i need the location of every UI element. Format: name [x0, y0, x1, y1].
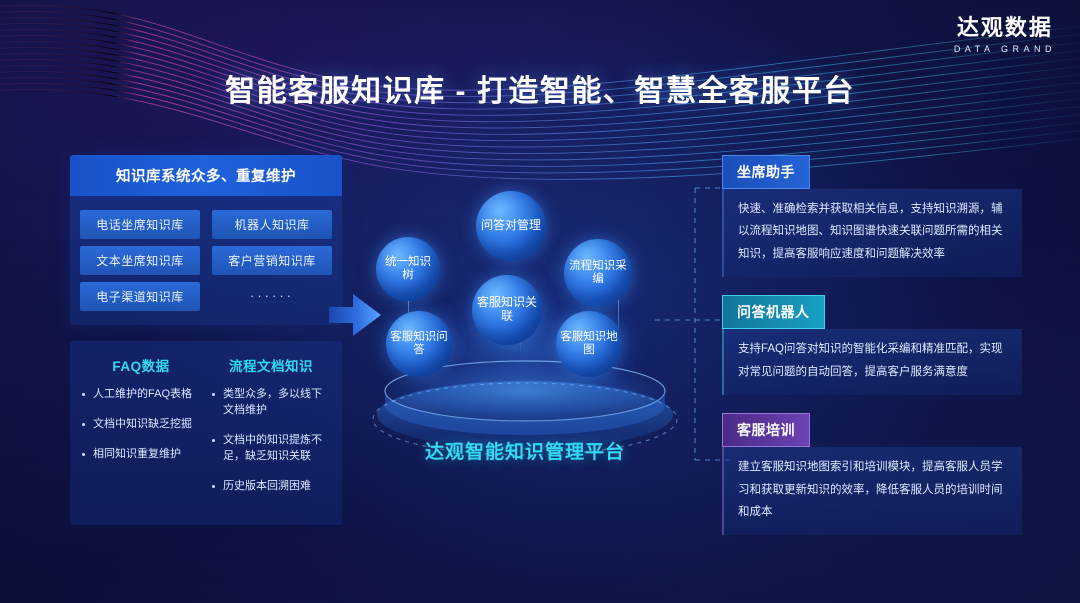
list-item: 文档中的知识提炼不足，缺乏知识关联 — [210, 433, 332, 465]
kb-chip-robot[interactable]: 机器人知识库 — [212, 210, 332, 239]
node-service-knowledge-qa[interactable]: 客服知识问答 — [386, 311, 452, 377]
kb-chip-ellipsis: ······ — [212, 282, 332, 311]
pain-points-panel: FAQ数据 人工维护的FAQ表格 文档中知识缺乏挖掘 相同知识重复维护 流程文档… — [70, 341, 342, 525]
info-card-title: 问答机器人 — [722, 295, 825, 329]
knowledge-platform-stage: 问答对管理 统一知识树 流程知识采编 客服知识关联 客服知识问答 客服知识地图 — [360, 175, 690, 465]
knowledge-base-grid: 电话坐席知识库 机器人知识库 文本坐席知识库 客户营销知识库 电子渠道知识库 ·… — [70, 196, 342, 311]
kb-chip-e-channel[interactable]: 电子渠道知识库 — [80, 282, 200, 311]
node-service-knowledge-map[interactable]: 客服知识地图 — [556, 311, 622, 377]
info-card-title: 坐席助手 — [722, 155, 810, 189]
list-item: 历史版本回溯困难 — [210, 479, 332, 495]
node-service-knowledge-link[interactable]: 客服知识关联 — [472, 275, 542, 345]
info-card-qa-robot: 问答机器人 支持FAQ问答对知识的智能化采编和精准匹配，实现对常见问题的自动回答… — [722, 295, 1022, 395]
knowledge-base-panel-header: 知识库系统众多、重复维护 — [70, 155, 342, 196]
kb-chip-customer-mktg[interactable]: 客户营销知识库 — [212, 246, 332, 275]
node-label: 客服知识地图 — [556, 331, 622, 357]
pain-points-title-process: 流程文档知识 — [210, 355, 332, 375]
node-process-knowledge-edit[interactable]: 流程知识采编 — [564, 239, 632, 307]
node-label: 统一知识树 — [376, 256, 440, 282]
brand-logo: 达观数据 DATA GRAND — [954, 16, 1056, 54]
node-label: 客服知识问答 — [386, 331, 452, 357]
pain-points-list-process: 类型众多，多以线下文档维护 文档中的知识提炼不足，缺乏知识关联 历史版本回溯困难 — [210, 387, 332, 495]
list-item: 文档中知识缺乏挖掘 — [80, 417, 202, 433]
node-qa-pair-management[interactable]: 问答对管理 — [476, 191, 546, 261]
brand-name-cn: 达观数据 — [954, 16, 1056, 40]
node-label: 问答对管理 — [477, 219, 545, 233]
kb-chip-phone-agent[interactable]: 电话坐席知识库 — [80, 210, 200, 239]
brand-name-en: DATA GRAND — [954, 44, 1056, 54]
pain-points-column-faq: FAQ数据 人工维护的FAQ表格 文档中知识缺乏挖掘 相同知识重复维护 — [80, 355, 202, 509]
info-card-service-training: 客服培训 建立客服知识地图索引和培训模块，提高客服人员学习和获取更新知识的效率，… — [722, 413, 1022, 535]
kb-chip-text-agent[interactable]: 文本坐席知识库 — [80, 246, 200, 275]
platform-caption: 达观智能知识管理平台 — [360, 437, 690, 464]
page-title: 智能客服知识库 - 打造智能、智慧全客服平台 — [0, 66, 1080, 110]
knowledge-base-panel: 知识库系统众多、重复维护 电话坐席知识库 机器人知识库 文本坐席知识库 客户营销… — [70, 155, 342, 325]
left-panel: 知识库系统众多、重复维护 电话坐席知识库 机器人知识库 文本坐席知识库 客户营销… — [70, 155, 342, 525]
pain-points-column-process: 流程文档知识 类型众多，多以线下文档维护 文档中的知识提炼不足，缺乏知识关联 历… — [210, 355, 332, 509]
right-cards-column: 坐席助手 快速、准确检索并获取相关信息，支持知识溯源，辅以流程知识地图、知识图谱… — [722, 155, 1022, 553]
info-card-title: 客服培训 — [722, 413, 810, 447]
list-item: 人工维护的FAQ表格 — [80, 387, 202, 403]
list-item: 类型众多，多以线下文档维护 — [210, 387, 332, 419]
info-card-body: 建立客服知识地图索引和培训模块，提高客服人员学习和获取更新知识的效率，降低客服人… — [722, 447, 1022, 535]
node-unified-knowledge-tree[interactable]: 统一知识树 — [376, 237, 440, 301]
info-card-body: 快速、准确检索并获取相关信息，支持知识溯源，辅以流程知识地图、知识图谱快速关联问… — [722, 189, 1022, 277]
pain-points-title-faq: FAQ数据 — [80, 355, 202, 375]
info-card-body: 支持FAQ问答对知识的智能化采编和精准匹配，实现对常见问题的自动回答，提高客户服… — [722, 329, 1022, 395]
node-label: 客服知识关联 — [472, 296, 542, 324]
node-label: 流程知识采编 — [564, 260, 632, 286]
pain-points-list-faq: 人工维护的FAQ表格 文档中知识缺乏挖掘 相同知识重复维护 — [80, 387, 202, 463]
list-item: 相同知识重复维护 — [80, 447, 202, 463]
info-card-agent-assistant: 坐席助手 快速、准确检索并获取相关信息，支持知识溯源，辅以流程知识地图、知识图谱… — [722, 155, 1022, 277]
